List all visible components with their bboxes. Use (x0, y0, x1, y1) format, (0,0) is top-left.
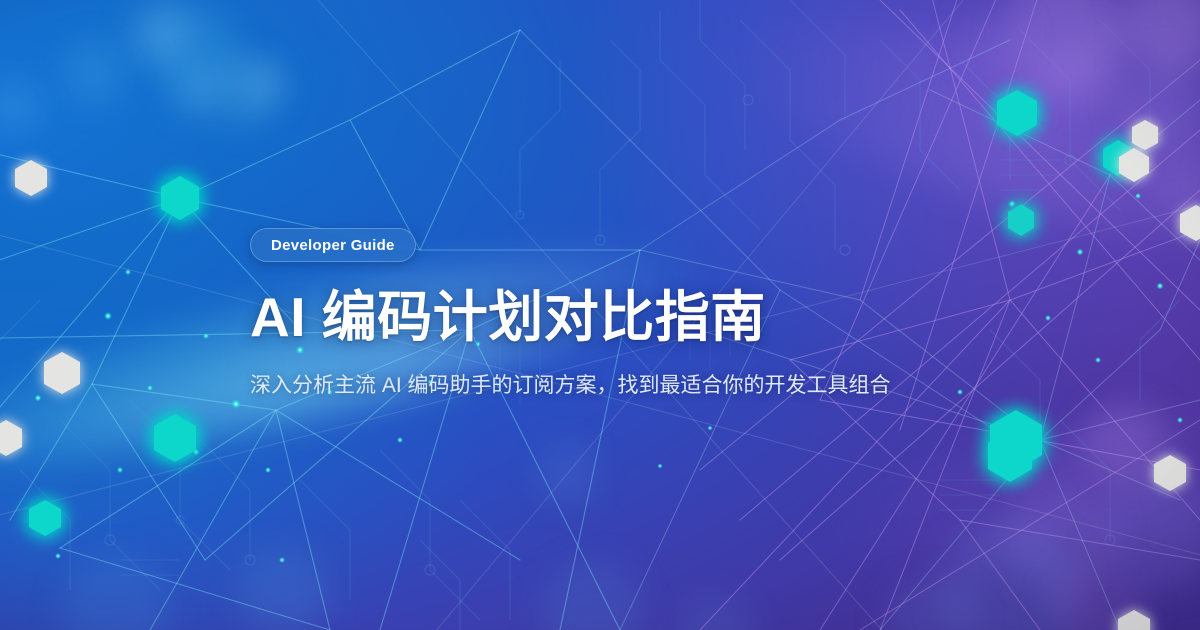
hero-content: Developer Guide AI 编码计划对比指南 深入分析主流 AI 编码… (250, 0, 1010, 630)
page-subtitle: 深入分析主流 AI 编码助手的订阅方案，找到最适合你的开发工具组合 (250, 369, 950, 402)
developer-guide-badge[interactable]: Developer Guide (250, 228, 416, 262)
hero-banner: Developer Guide AI 编码计划对比指南 深入分析主流 AI 编码… (0, 0, 1200, 630)
page-title: AI 编码计划对比指南 (250, 288, 766, 346)
